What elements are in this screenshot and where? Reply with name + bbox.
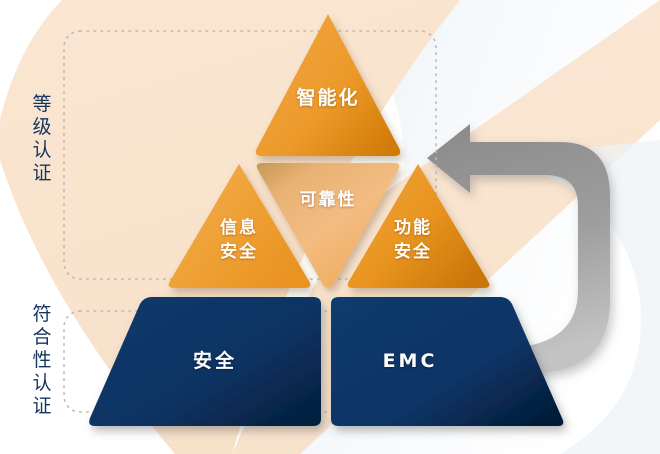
diagram-canvas: 等级认证 符合性认证 智能化 可靠性 信息 安全 功能 安全 安全 EMC xyxy=(0,0,660,454)
group-label-compliance-char-0: 符合性认证 xyxy=(25,303,59,418)
group-label-compliance: 符合性认证 xyxy=(25,303,59,418)
group-label-grade: 等级认证 xyxy=(25,93,59,185)
cell-emc[interactable] xyxy=(331,297,563,426)
group-label-grade-char-0: 等级认证 xyxy=(25,93,59,185)
pyramid-shapes xyxy=(0,0,660,454)
cell-intelligent[interactable] xyxy=(256,14,400,156)
cell-safety[interactable] xyxy=(89,297,321,426)
